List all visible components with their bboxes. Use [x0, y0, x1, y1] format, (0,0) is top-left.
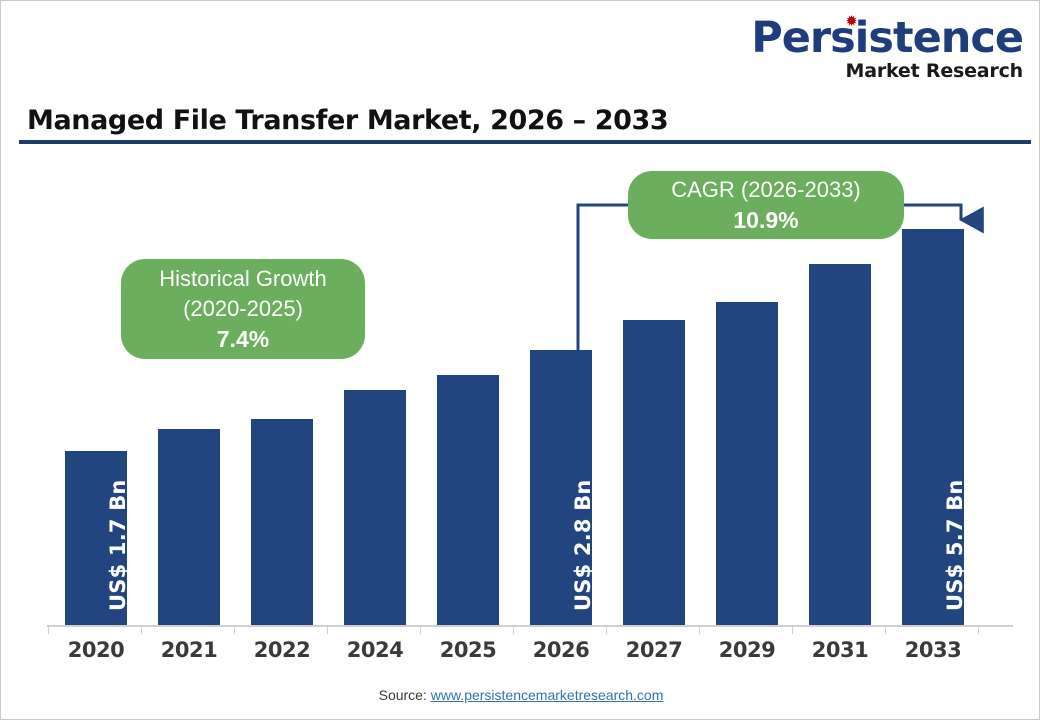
- x-tick-2027: [606, 625, 607, 634]
- x-label-2031: 2031: [794, 638, 887, 662]
- x-tick-2025: [420, 625, 421, 634]
- x-tick-2031: [792, 625, 793, 634]
- x-label-2026: 2026: [515, 638, 608, 662]
- bar-value-label-2026: US$ 2.8 Bn: [571, 479, 595, 611]
- x-label-2021: 2021: [143, 638, 236, 662]
- chart-plot-area: US$ 1.7 BnUS$ 2.8 BnUS$ 5.7 Bn 202020212…: [1, 1, 1040, 721]
- bar-value-label-2020: US$ 1.7 Bn: [106, 479, 130, 611]
- x-tick-2024: [327, 625, 328, 634]
- x-axis-line: [47, 625, 1013, 627]
- bar-value-label-2033: US$ 5.7 Bn: [943, 479, 967, 611]
- x-tick-2029: [699, 625, 700, 634]
- x-tick-2026: [513, 625, 514, 634]
- historical-growth-line2: (2020-2025): [183, 294, 303, 324]
- x-label-2025: 2025: [422, 638, 515, 662]
- x-tick-2022: [234, 625, 235, 634]
- x-tick-end: [978, 625, 979, 634]
- x-label-2029: 2029: [701, 638, 794, 662]
- x-label-2022: 2022: [236, 638, 329, 662]
- historical-growth-line1: Historical Growth: [159, 264, 326, 294]
- x-tick-2033: [885, 625, 886, 634]
- x-label-2020: 2020: [50, 638, 143, 662]
- source-link[interactable]: www.persistencemarketresearch.com: [431, 687, 664, 703]
- x-label-2033: 2033: [887, 638, 980, 662]
- cagr-value: 10.9%: [733, 205, 798, 236]
- source-prefix: Source:: [379, 687, 431, 703]
- historical-growth-value: 7.4%: [217, 324, 269, 355]
- source-footer: Source: www.persistencemarketresearch.co…: [1, 687, 1040, 703]
- x-tick-2020: [48, 625, 49, 634]
- x-tick-2021: [141, 625, 142, 634]
- bar-2021: [158, 429, 220, 625]
- bar-2031: [809, 264, 871, 625]
- bar-2029: [716, 302, 778, 625]
- x-label-2024: 2024: [329, 638, 422, 662]
- bar-2025: [437, 375, 499, 625]
- cagr-callout: CAGR (2026-2033) 10.9%: [628, 171, 904, 239]
- bar-2022: [251, 419, 313, 625]
- cagr-line1: CAGR (2026-2033): [671, 175, 861, 205]
- chart-card: Persistence ✹ Market Research Managed Fi…: [0, 0, 1040, 720]
- x-label-2027: 2027: [608, 638, 701, 662]
- bar-2024: [344, 390, 406, 625]
- historical-growth-callout: Historical Growth (2020-2025) 7.4%: [121, 259, 365, 359]
- bar-2027: [623, 320, 685, 625]
